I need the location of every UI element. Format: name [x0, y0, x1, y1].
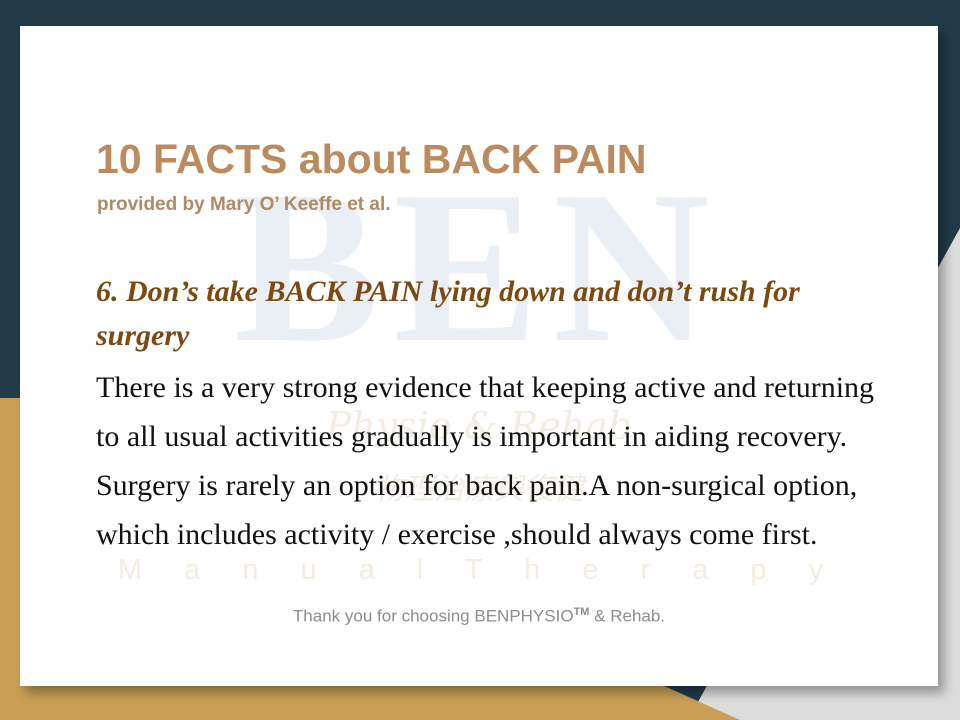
footer-credit: Thank you for choosing BENPHYSIOTM & Reh…	[20, 606, 938, 627]
footer-text-before: Thank you for choosing BENPHYSIO	[293, 607, 574, 626]
fact-body-text: There is a very strong evidence that kee…	[96, 364, 896, 560]
fact-heading: 6. Don’s take BACK PAIN lying down and d…	[96, 270, 886, 359]
trademark-symbol: TM	[574, 606, 590, 618]
slide-content-card: BEN Physio & Rehab 物理治療與復健 M a n u a l T…	[20, 26, 938, 686]
footer-text-after: & Rehab.	[589, 607, 665, 626]
page-subtitle: provided by Mary O’ Keeffe et al.	[97, 194, 391, 216]
page-title: 10 FACTS about BACK PAIN	[96, 136, 647, 183]
slide-canvas: BEN Physio & Rehab 物理治療與復健 M a n u a l T…	[0, 0, 960, 720]
